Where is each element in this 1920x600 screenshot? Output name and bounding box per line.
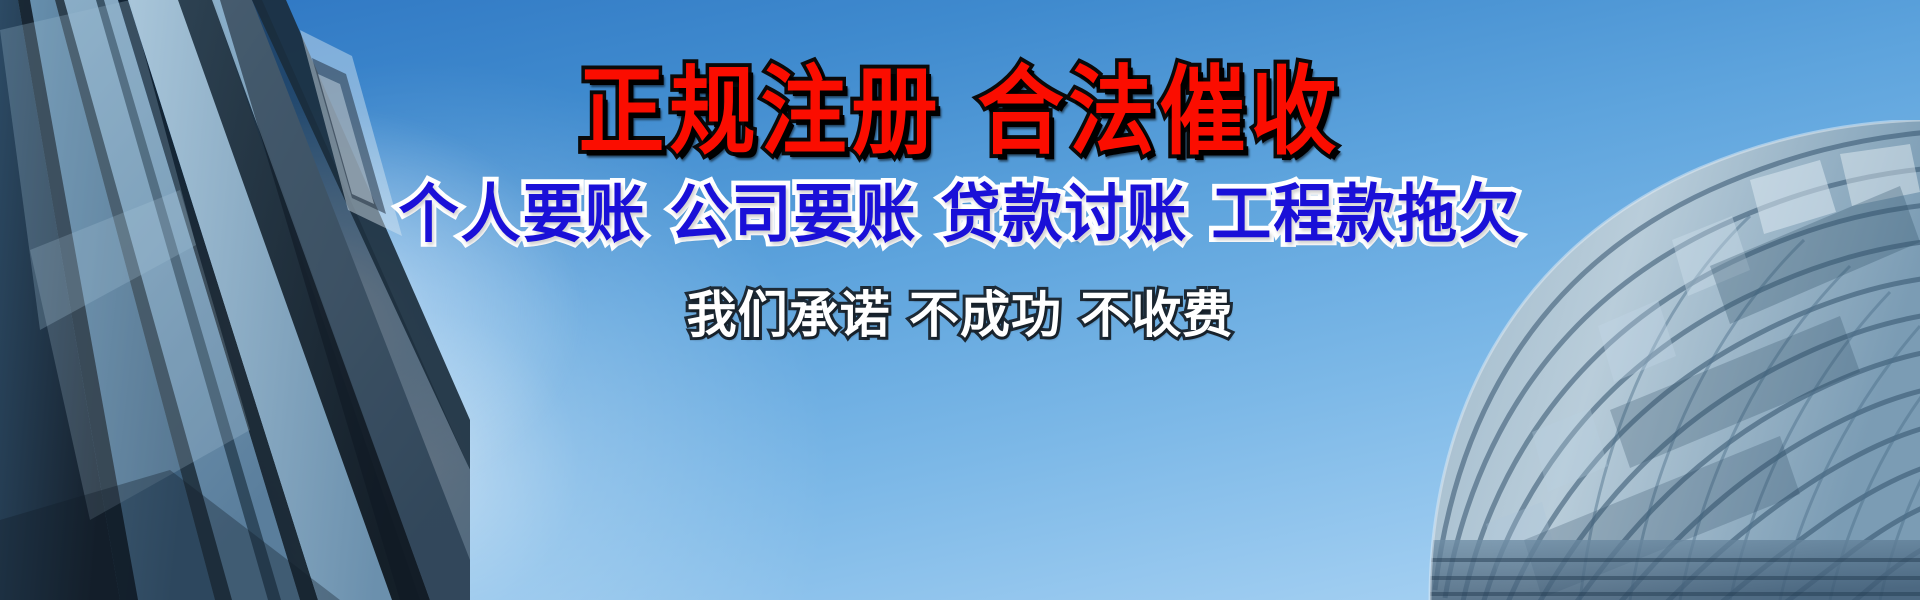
advertising-banner: 正规注册 合法催收 个人要账 公司要账 贷款讨账 工程款拖欠 我们承诺 不成功 …: [0, 0, 1920, 600]
banner-text-block: 正规注册 合法催收 个人要账 公司要账 贷款讨账 工程款拖欠 我们承诺 不成功 …: [0, 0, 1920, 600]
headline-text: 正规注册 合法催收: [579, 62, 1342, 163]
services-text: 个人要账 公司要账 贷款讨账 工程款拖欠: [399, 182, 1522, 249]
tagline-text: 我们承诺 不成功 不收费: [687, 289, 1234, 342]
